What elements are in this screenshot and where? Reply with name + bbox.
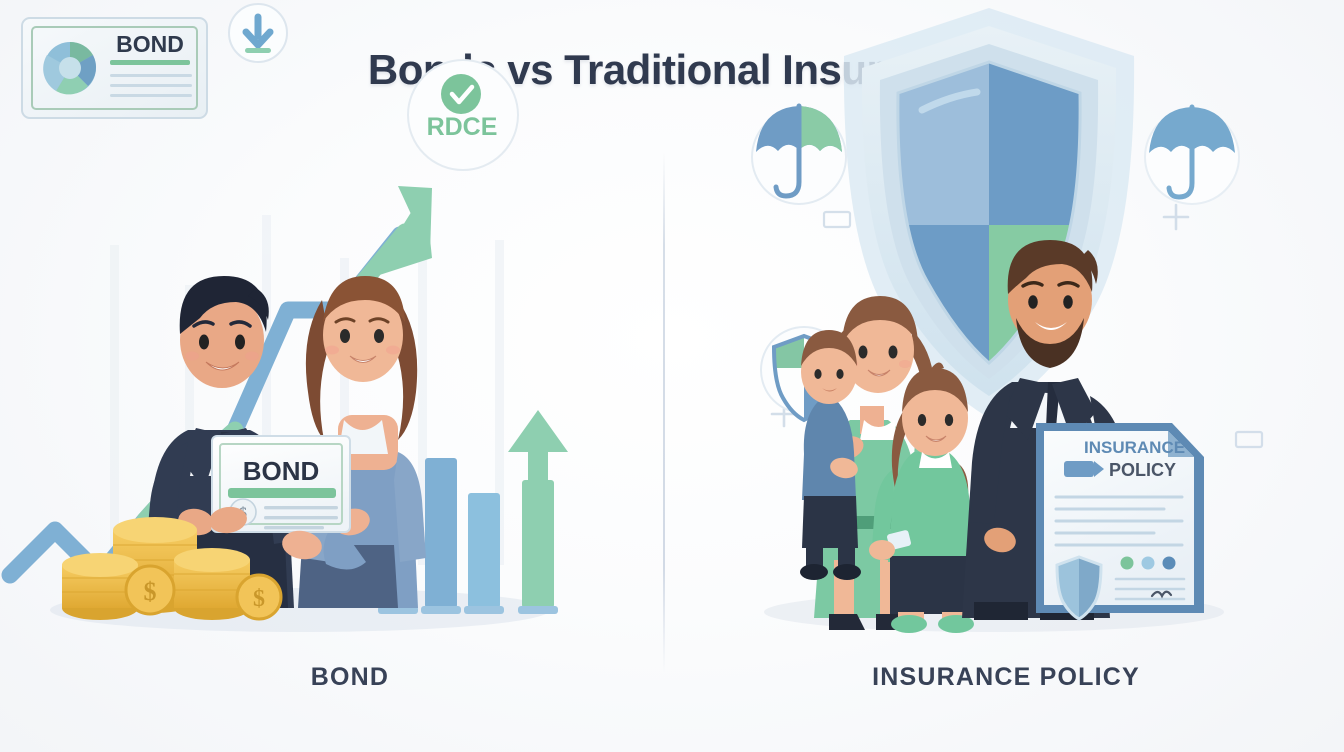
svg-text:$: $ (253, 586, 265, 612)
policy-line1: INSURANCE (1084, 438, 1185, 457)
svg-text:$: $ (144, 577, 157, 606)
bond-illustration: BOND RDCE (0, 0, 664, 752)
rdce-badge: RDCE (408, 60, 518, 170)
bond-panel: BOND RDCE (0, 0, 664, 752)
toddler-figure (800, 330, 861, 580)
insurance-illustration: INSURANCE POLICY (664, 0, 1344, 752)
policy-document: INSURANCE POLICY (1036, 423, 1204, 619)
bond-note-label: BOND (116, 31, 184, 57)
insurance-panel: INSURANCE POLICY (664, 0, 1344, 752)
policy-dots (1121, 557, 1176, 570)
infographic-canvas: Bonds vs Traditional Insurance (0, 0, 1344, 752)
blue-tag-icon (1064, 461, 1094, 477)
download-arrow-icon (229, 4, 287, 62)
plus-mark (1164, 205, 1188, 229)
rect-outline (824, 212, 850, 227)
standing-coin: $ (126, 566, 174, 614)
umbrella-duotone-badge (752, 106, 846, 204)
held-certificate-label: BOND (243, 456, 320, 486)
standing-coin: $ (237, 575, 281, 619)
bond-caption: BOND (190, 663, 510, 692)
rect-outline (1236, 432, 1262, 447)
check-circle-icon (441, 74, 481, 114)
bond-note-card: BOND (22, 18, 207, 118)
insurance-caption: INSURANCE POLICY (830, 663, 1182, 692)
umbrella-solid-badge (1145, 107, 1239, 204)
rdce-badge-label: RDCE (427, 113, 498, 141)
policy-line2: POLICY (1109, 460, 1176, 480)
